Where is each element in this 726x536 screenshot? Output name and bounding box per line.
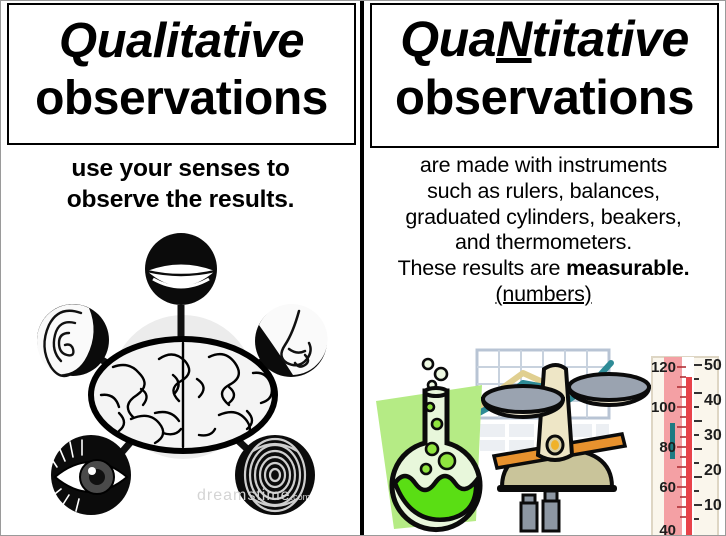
numbers-note: (numbers) [495, 282, 591, 308]
scale-weights [521, 491, 559, 531]
title-prefix: Qua [400, 11, 496, 67]
quantitative-title-box: QuaNtitative observations [370, 3, 719, 148]
qualitative-body-text: use your senses to observe the results. [1, 154, 360, 216]
qualitative-title-box: Qualitative observations [7, 3, 356, 145]
svg-text:80: 80 [659, 439, 676, 456]
svg-text:100: 100 [651, 399, 676, 416]
brain-icon [91, 339, 275, 451]
svg-text:30: 30 [704, 427, 722, 444]
qualitative-body-line1: use your senses to [1, 154, 360, 185]
title-suffix: titative [532, 11, 689, 67]
mouth-icon [145, 233, 217, 305]
svg-text:120: 120 [651, 359, 676, 376]
balance-scale-icon [483, 365, 649, 531]
quantitative-body-line5: These results are measurable. [364, 256, 723, 282]
svg-text:20: 20 [704, 462, 722, 479]
qualitative-title-line1: Qualitative [9, 17, 354, 66]
svg-text:10: 10 [704, 497, 722, 514]
quantitative-panel: QuaNtitative observations are made with … [364, 1, 723, 535]
quantitative-body-line2: such as rulers, balances, [364, 179, 723, 205]
title-highlight-n: N [496, 11, 532, 67]
thermometer-icon: 120 100 80 60 40 50 40 30 20 10 [651, 357, 722, 535]
qualitative-title-line2: observations [9, 75, 354, 123]
nose-icon [255, 304, 328, 377]
svg-text:60: 60 [659, 479, 676, 496]
thermometer-mercury [686, 377, 692, 535]
quantitative-body-text: are made with instruments such as rulers… [364, 153, 723, 308]
eye-icon [49, 435, 131, 515]
svg-text:40: 40 [704, 392, 722, 409]
flask-bubbles-outer [423, 359, 447, 389]
measurement-instruments-collage: 120 100 80 60 40 50 40 30 20 10 [364, 339, 723, 535]
line5-prefix: These results are [398, 256, 566, 280]
svg-text:40: 40 [659, 522, 676, 535]
qualitative-panel: Qualitative observations use your senses… [1, 1, 364, 535]
quantitative-title-line2: observations [372, 74, 717, 123]
quantitative-body-line3: graduated cylinders, beakers, [364, 205, 723, 231]
flask-icon [376, 359, 482, 530]
ear-icon [37, 304, 109, 376]
observations-poster: Qualitative observations use your senses… [0, 0, 726, 536]
qualitative-body-line2: observe the results. [1, 185, 360, 216]
svg-text:50: 50 [704, 357, 722, 374]
measurable-emphasis: measurable. [566, 256, 689, 280]
quantitative-body-line4: and thermometers. [364, 230, 723, 256]
dreamstime-watermark: dreamstime.com [197, 487, 310, 505]
quantitative-title-line1: QuaNtitative [372, 14, 717, 64]
quantitative-body-line1: are made with instruments [364, 153, 723, 179]
